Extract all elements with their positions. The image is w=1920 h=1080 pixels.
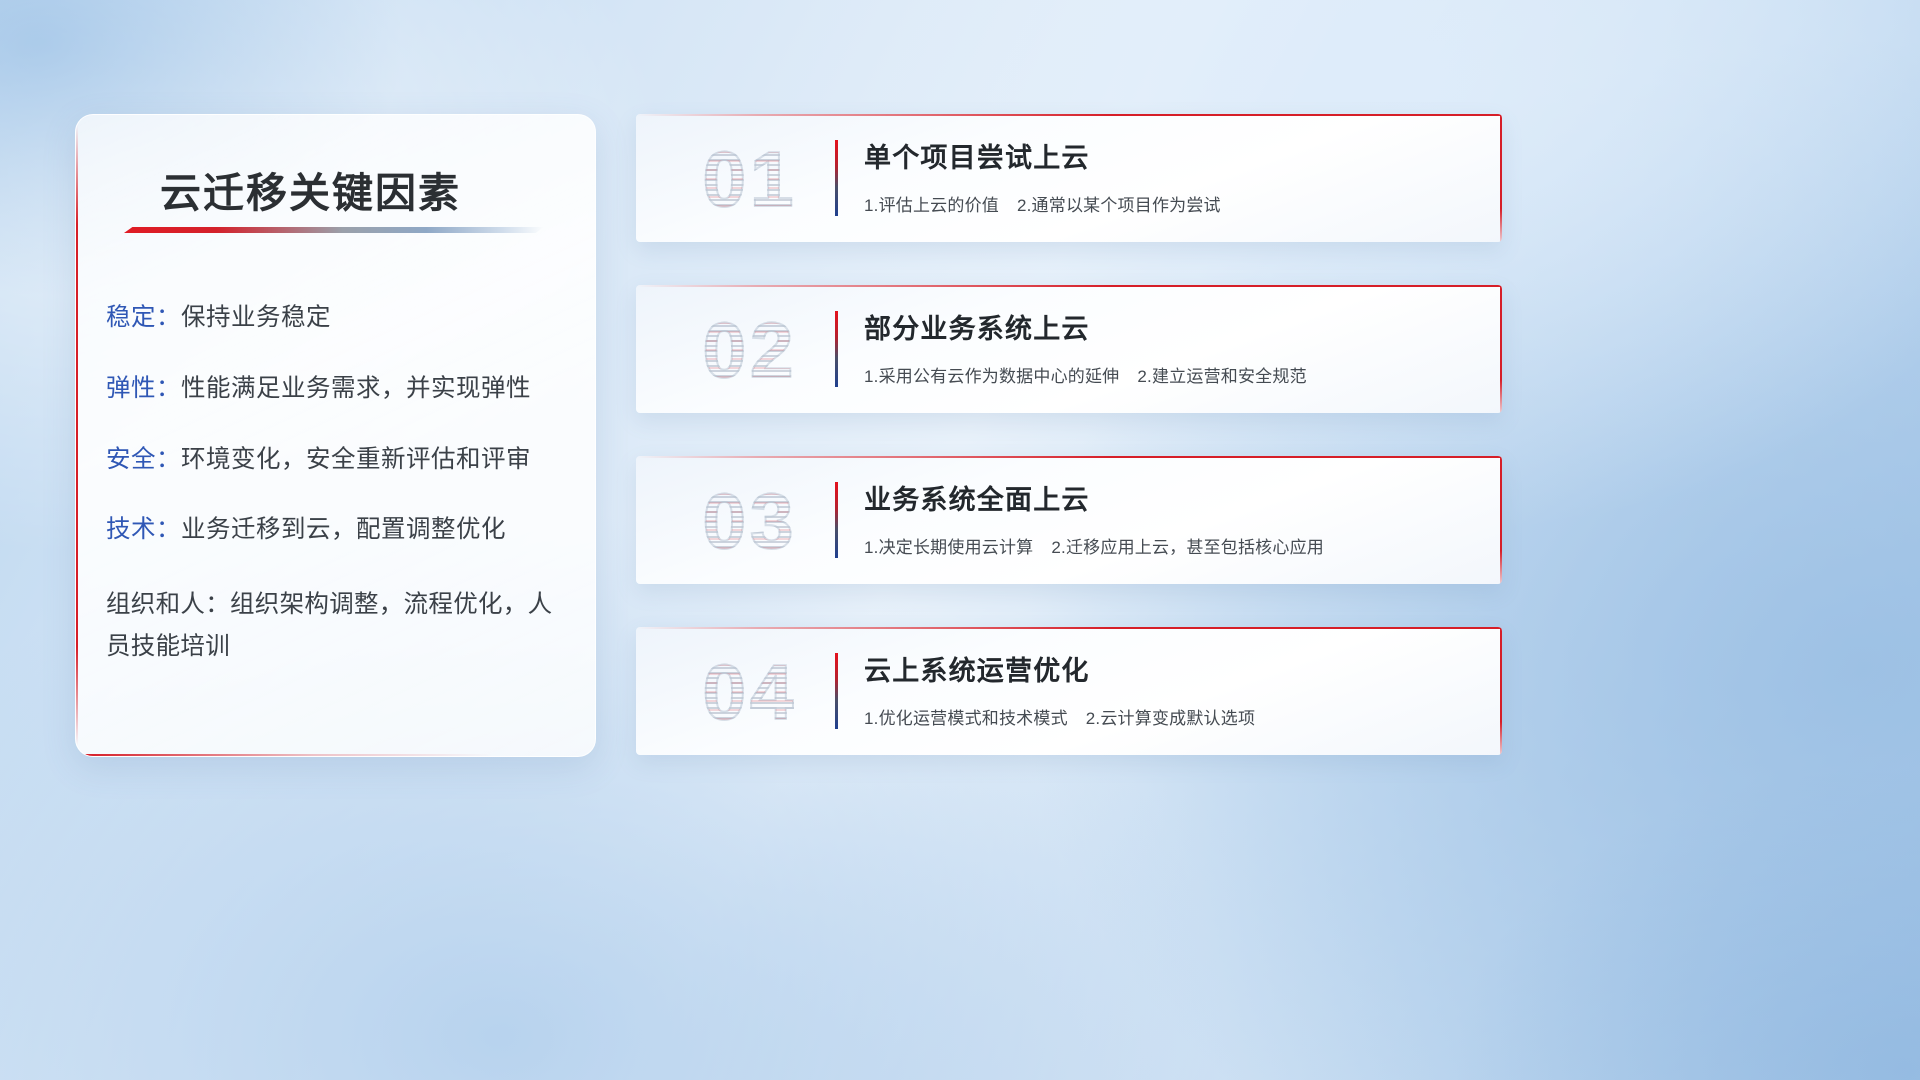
list-item-text: 保持业务稳定 — [181, 304, 331, 331]
stage-title: 云上系统运营优化 — [864, 649, 1090, 688]
list-item: 技术：业务迁移到云，配置调整优化 — [106, 513, 569, 548]
stage-divider-icon — [835, 311, 838, 387]
title-underline-gradient — [124, 227, 544, 233]
list-item-text: 性能满足业务需求，并实现弹性 — [181, 375, 531, 402]
stage-title: 单个项目尝试上云 — [864, 136, 1090, 175]
stage-point-2: 2.云计算变成默认选项 — [1086, 709, 1255, 728]
list-item-label: 弹性： — [106, 375, 181, 402]
list-item-text: 业务迁移到云，配置调整优化 — [181, 516, 506, 543]
stage-number-03: 03 — [660, 466, 840, 576]
key-factors-card: 云迁移关键因素 稳定：保持业务稳定 弹性：性能满足业务需求，并实现弹性 安全：环… — [75, 114, 596, 757]
stage-card-04[interactable]: 04 04 云上系统运营优化 1.优化运营模式和技术模式2.云计算变成默认选项 — [636, 627, 1502, 755]
stage-card-02[interactable]: 02 02 部分业务系统上云 1.采用公有云作为数据中心的延伸2.建立运营和安全… — [636, 285, 1502, 413]
stage-title: 部分业务系统上云 — [864, 307, 1090, 346]
key-factors-list: 稳定：保持业务稳定 弹性：性能满足业务需求，并实现弹性 安全：环境变化，安全重新… — [106, 301, 569, 704]
stage-number-04: 04 — [660, 637, 840, 747]
list-item-text: 环境变化，安全重新评估和评审 — [181, 446, 531, 473]
stage-number-01: 01 — [660, 124, 840, 234]
stage-description: 1.决定长期使用云计算2.迁移应用上云，甚至包括核心应用 — [864, 533, 1324, 558]
stage-point-1: 1.决定长期使用云计算 — [864, 538, 1033, 557]
stage-card-list: 01 01 单个项目尝试上云 1.评估上云的价值2.通常以某个项目作为尝试 02… — [636, 114, 1502, 798]
stage-description: 1.采用公有云作为数据中心的延伸2.建立运营和安全规范 — [864, 362, 1307, 387]
list-item-label: 组织和人： — [106, 591, 230, 618]
stage-point-2: 2.通常以某个项目作为尝试 — [1017, 196, 1221, 215]
list-item-label: 安全： — [106, 446, 181, 473]
list-item-label: 技术： — [106, 516, 181, 543]
stage-card-01[interactable]: 01 01 单个项目尝试上云 1.评估上云的价值2.通常以某个项目作为尝试 — [636, 114, 1502, 242]
stage-divider-icon — [835, 653, 838, 729]
stage-point-1: 1.评估上云的价值 — [864, 196, 999, 215]
stage-description: 1.评估上云的价值2.通常以某个项目作为尝试 — [864, 191, 1221, 216]
list-item-label: 稳定： — [106, 304, 181, 331]
stage-number-02: 02 — [660, 295, 840, 405]
stage-divider-icon — [835, 140, 838, 216]
stage-point-2: 2.迁移应用上云，甚至包括核心应用 — [1051, 538, 1324, 557]
page-title: 云迁移关键因素 — [160, 159, 461, 219]
list-item: 组织和人：组织架构调整，流程优化，人员技能培训 — [106, 584, 569, 668]
stage-point-1: 1.优化运营模式和技术模式 — [864, 709, 1068, 728]
list-item: 安全：环境变化，安全重新评估和评审 — [106, 443, 569, 478]
stage-title: 业务系统全面上云 — [864, 478, 1090, 517]
list-item: 弹性：性能满足业务需求，并实现弹性 — [106, 372, 569, 407]
stage-divider-icon — [835, 482, 838, 558]
stage-card-03[interactable]: 03 03 业务系统全面上云 1.决定长期使用云计算2.迁移应用上云，甚至包括核… — [636, 456, 1502, 584]
stage-point-1: 1.采用公有云作为数据中心的延伸 — [864, 367, 1119, 386]
stage-point-2: 2.建立运营和安全规范 — [1137, 367, 1306, 386]
stage-description: 1.优化运营模式和技术模式2.云计算变成默认选项 — [864, 704, 1255, 729]
list-item: 稳定：保持业务稳定 — [106, 301, 569, 336]
